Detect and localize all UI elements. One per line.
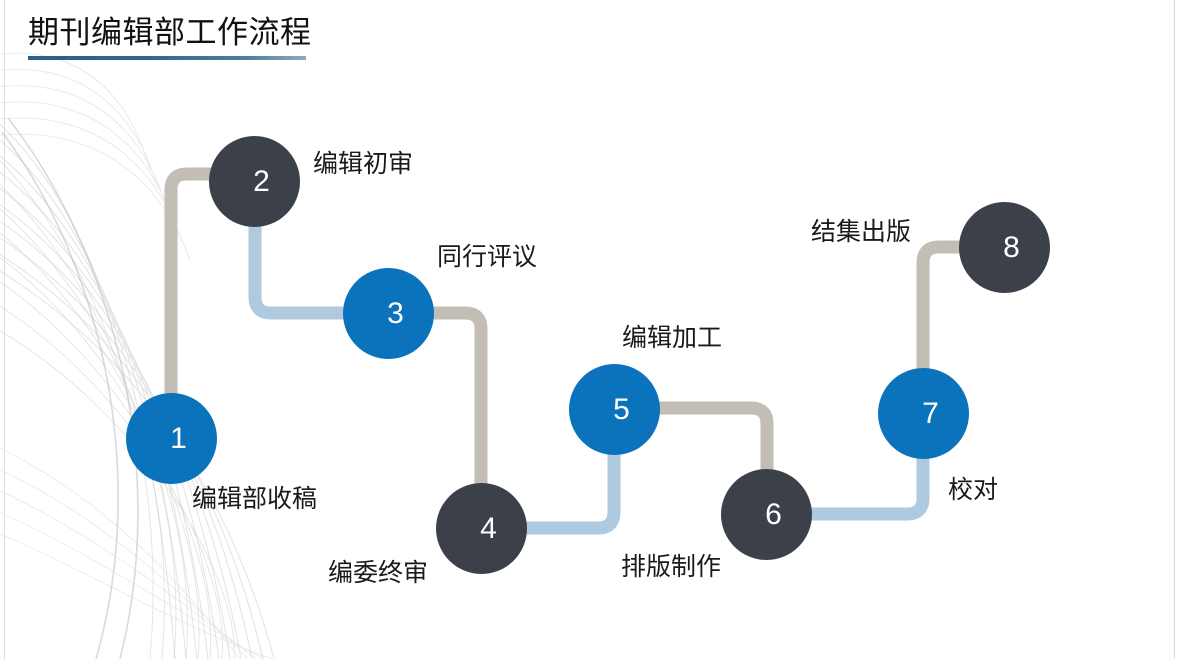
- flow-node-8-number: 8: [1003, 233, 1020, 263]
- flow-node-3-number: 3: [387, 299, 404, 329]
- flow-label-8: 结集出版: [811, 219, 911, 244]
- flow-node-3[interactable]: 3: [343, 268, 434, 359]
- flow-node-2[interactable]: 2: [209, 136, 300, 227]
- slide-left-border: [4, 0, 5, 659]
- flow-node-1-number: 1: [170, 424, 187, 454]
- slide-right-border: [1174, 0, 1175, 659]
- flow-label-2: 编辑初审: [313, 151, 413, 176]
- flow-node-4-number: 4: [480, 514, 497, 544]
- flow-label-7: 校对: [948, 477, 998, 502]
- flow-node-8[interactable]: 8: [959, 202, 1050, 293]
- flow-node-7-number: 7: [922, 399, 939, 429]
- flow-node-4[interactable]: 4: [436, 483, 527, 574]
- flow-node-7[interactable]: 7: [878, 368, 969, 459]
- flow-node-6[interactable]: 6: [721, 469, 812, 560]
- flow-label-4: 编委终审: [328, 560, 428, 585]
- flow-node-5-number: 5: [613, 395, 630, 425]
- flow-node-5[interactable]: 5: [569, 364, 660, 455]
- slide-canvas: 1 2 3 4 5 6 7 8 编辑部收稿 编辑初审 同行评议 编委终审 编辑加…: [0, 0, 1179, 659]
- flow-label-5: 编辑加工: [622, 325, 722, 350]
- title-underline: [28, 56, 306, 60]
- title-block: 期刊编辑部工作流程: [28, 16, 312, 60]
- flow-node-1[interactable]: 1: [126, 393, 217, 484]
- flow-label-3: 同行评议: [437, 244, 537, 269]
- flow-label-6: 排版制作: [621, 554, 721, 579]
- flow-node-6-number: 6: [765, 500, 782, 530]
- flow-node-2-number: 2: [253, 167, 270, 197]
- flow-label-1: 编辑部收稿: [192, 486, 317, 511]
- page-title: 期刊编辑部工作流程: [28, 16, 312, 50]
